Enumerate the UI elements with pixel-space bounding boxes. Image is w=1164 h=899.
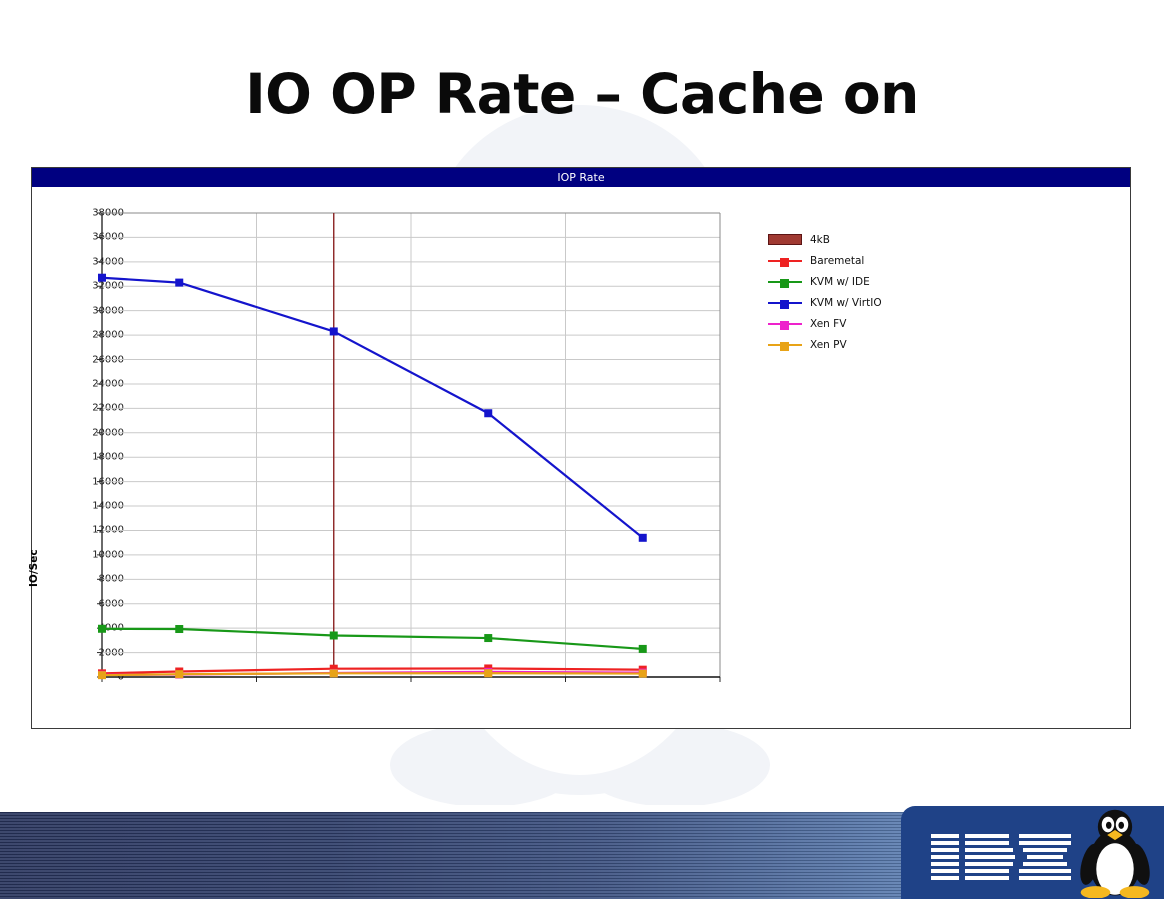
legend-label: KVM w/ IDE <box>810 276 870 288</box>
legend-item[interactable]: Baremetal <box>768 250 938 271</box>
legend-label: Xen PV <box>810 339 847 351</box>
legend-swatch <box>768 297 802 309</box>
chart-legend: 4kBBaremetalKVM w/ IDEKVM w/ VirtIOXen F… <box>768 229 938 355</box>
plot-area-wrapper: IO/Sec KB/Blocksize 38000360003400032000… <box>32 187 1130 728</box>
chart-header-title: IOP Rate <box>32 168 1130 187</box>
legend-swatch <box>768 276 802 288</box>
legend-item[interactable]: KVM w/ VirtIO <box>768 292 938 313</box>
legend-item[interactable]: Xen PV <box>768 334 938 355</box>
legend-item[interactable]: 4kB <box>768 229 938 250</box>
legend-swatch <box>768 234 802 245</box>
chart-container: IOP Rate IO/Sec KB/Blocksize 38000360003… <box>31 167 1131 729</box>
legend-label: Baremetal <box>810 255 864 267</box>
legend-label: 4kB <box>810 234 830 246</box>
legend-swatch <box>768 339 802 351</box>
ibm-logo-icon <box>931 834 1071 880</box>
legend-swatch <box>768 318 802 330</box>
page-title: IO OP Rate – Cache on <box>0 62 1164 126</box>
tux-penguin-icon <box>1076 808 1154 898</box>
legend-label: Xen FV <box>810 318 846 330</box>
legend-item[interactable]: Xen FV <box>768 313 938 334</box>
line-chart-plot <box>32 187 812 887</box>
legend-item[interactable]: KVM w/ IDE <box>768 271 938 292</box>
legend-swatch <box>768 255 802 267</box>
legend-label: KVM w/ VirtIO <box>810 297 882 309</box>
ibm-logo-panel <box>901 806 1164 899</box>
